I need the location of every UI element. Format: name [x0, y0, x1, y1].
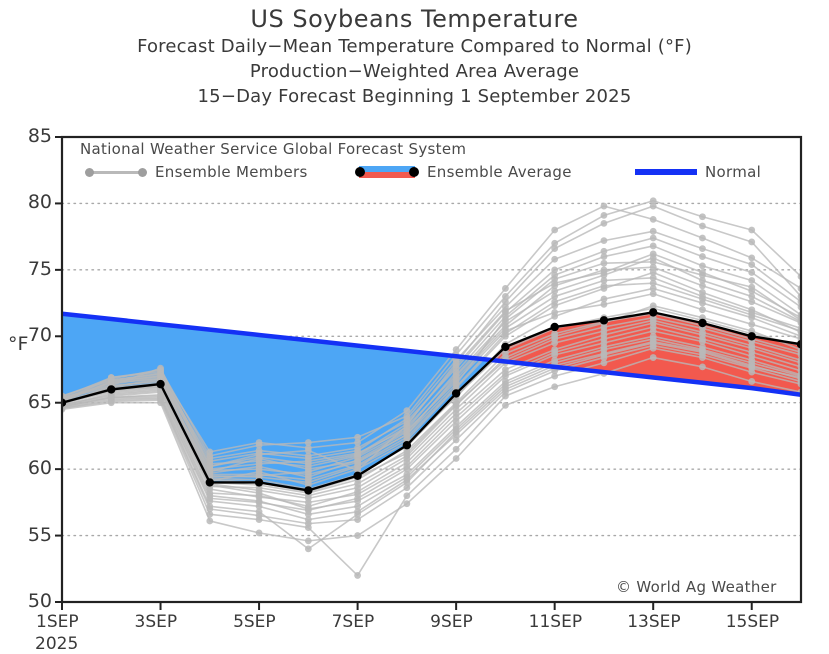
x-axis-year: 2025 — [35, 634, 78, 654]
chart-figure: US Soybeans Temperature Forecast Daily−M… — [0, 0, 829, 649]
y-tick-label: 70 — [6, 324, 52, 346]
x-tick-label: 7SEP — [332, 612, 375, 632]
y-tick-label: 65 — [6, 391, 52, 413]
legend-item-ensemble-members[interactable]: Ensemble Members — [85, 163, 308, 181]
x-tick-label: 11SEP — [529, 612, 582, 632]
plot-canvas — [0, 0, 829, 649]
x-tick-label: 13SEP — [627, 612, 680, 632]
legend-label-ensemble-members: Ensemble Members — [155, 163, 308, 181]
y-tick-label: 85 — [6, 125, 52, 147]
y-tick-label: 75 — [6, 258, 52, 280]
x-tick-label: 1SEP — [36, 612, 79, 632]
x-tick-label: 3SEP — [135, 612, 178, 632]
y-tick-label: 50 — [6, 590, 52, 612]
legend-item-ensemble-average[interactable]: Ensemble Average — [355, 163, 572, 181]
y-tick-label: 80 — [6, 191, 52, 213]
legend-header: National Weather Service Global Forecast… — [80, 140, 466, 158]
legend-label-normal: Normal — [705, 163, 761, 181]
legend-item-normal[interactable]: Normal — [635, 163, 761, 181]
x-tick-label: 5SEP — [233, 612, 276, 632]
y-tick-label: 60 — [6, 457, 52, 479]
normal-swatch-icon — [635, 169, 697, 175]
y-axis-ticks: 5055606570758085 — [0, 0, 52, 649]
ensemble-members-swatch-icon — [85, 166, 147, 178]
x-tick-label: 9SEP — [430, 612, 473, 632]
ensemble-average-swatch-icon — [355, 164, 419, 180]
x-tick-label: 15SEP — [726, 612, 779, 632]
y-tick-label: 55 — [6, 524, 52, 546]
attribution-text: © World Ag Weather — [616, 578, 777, 596]
legend-label-ensemble-average: Ensemble Average — [427, 163, 572, 181]
